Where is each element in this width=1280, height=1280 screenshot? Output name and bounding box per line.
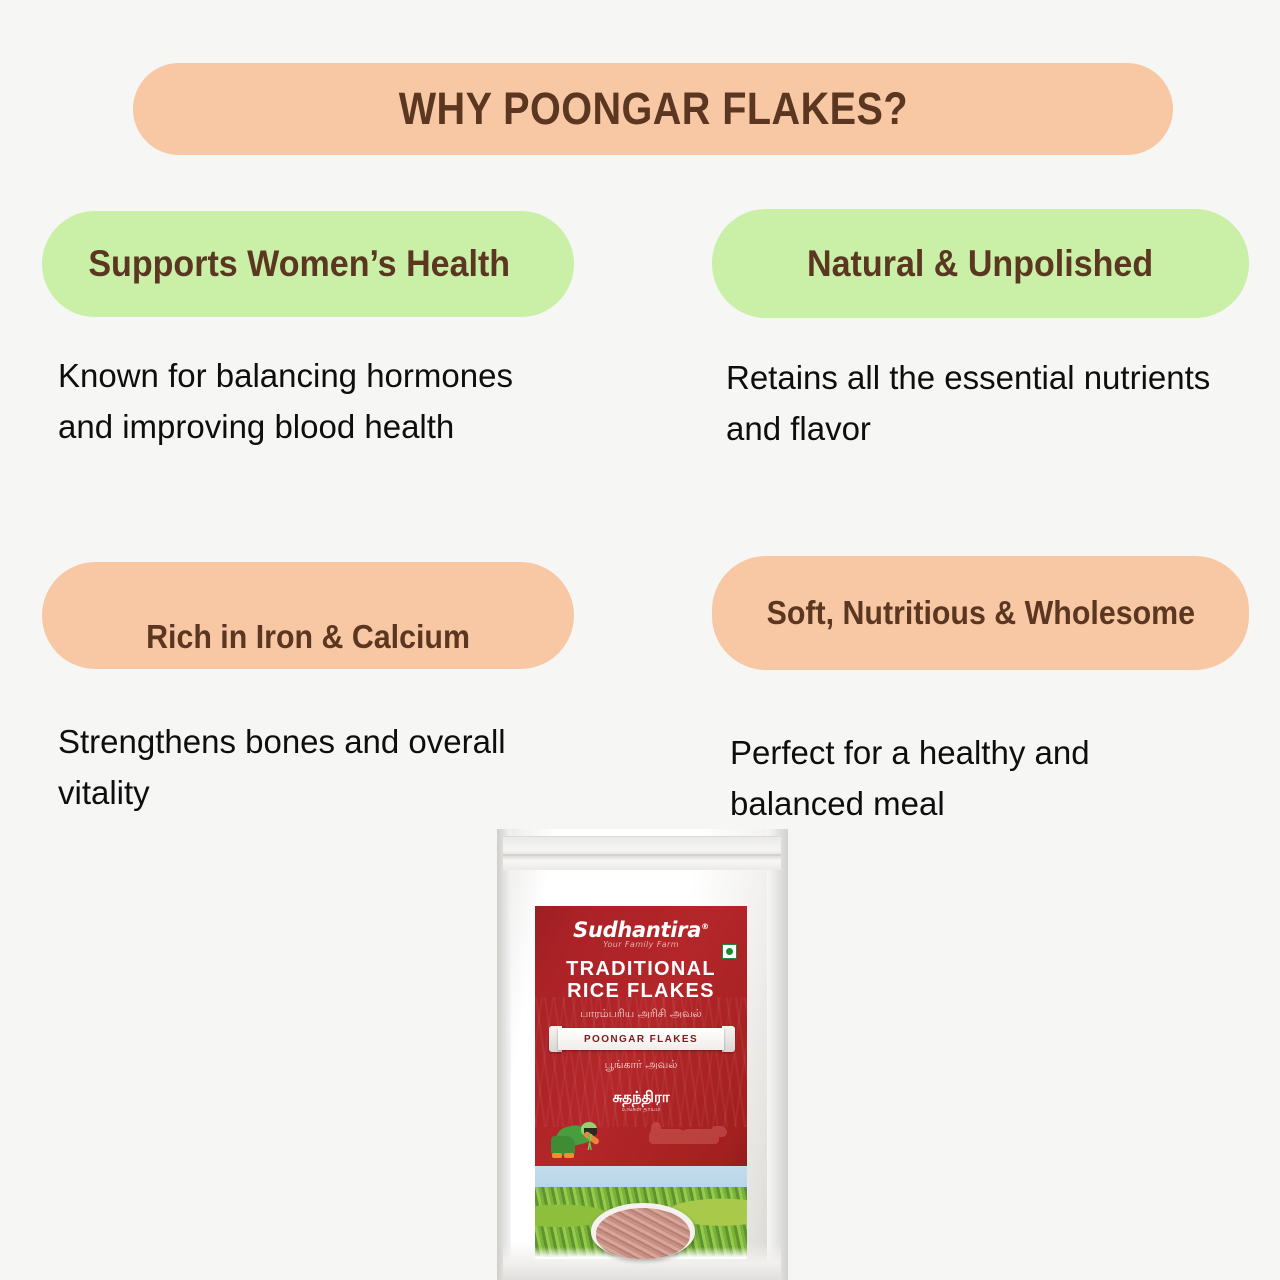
package-product-name-line1: TRADITIONAL xyxy=(535,958,747,981)
feature-description-supports-womens-health: Known for balancing hormones and improvi… xyxy=(58,350,558,453)
package-product-name-line2: RICE FLAKES xyxy=(535,980,747,1003)
feature-pill-rich-in-iron-calcium: Rich in Iron & Calcium xyxy=(42,562,574,669)
package-variant-name: POONGAR FLAKES xyxy=(584,1034,698,1045)
feature-description-natural-unpolished: Retains all the essential nutrients and … xyxy=(726,352,1226,455)
product-package-image: Sudhantira® Your Family Farm TRADITIONAL… xyxy=(489,829,796,1280)
package-sky-band xyxy=(535,1166,747,1187)
feature-pill-supports-womens-health: Supports Women’s Health xyxy=(42,211,574,317)
feature-label-soft-nutritious-wholesome: Soft, Nutritious & Wholesome xyxy=(766,593,1194,633)
feature-label-rich-in-iron-calcium: Rich in Iron & Calcium xyxy=(146,617,470,657)
feature-pill-soft-nutritious-wholesome: Soft, Nutritious & Wholesome xyxy=(712,556,1249,670)
feature-description-rich-in-iron-calcium: Strengthens bones and overall vitality xyxy=(58,716,558,819)
rice-seedling-icon xyxy=(581,1134,599,1150)
feature-label-supports-womens-health: Supports Women’s Health xyxy=(88,241,510,286)
farm-illustration xyxy=(535,1116,747,1158)
page-title-banner: WHY POONGAR FLAKES? xyxy=(133,63,1173,155)
package-brand-name: Sudhantira® xyxy=(535,918,747,942)
brand-name-text: Sudhantira xyxy=(573,918,701,942)
package-product-name-tamil: பாரம்பரிய அரிசி அவல் xyxy=(535,1007,747,1022)
package-front-label: Sudhantira® Your Family Farm TRADITIONAL… xyxy=(535,906,747,1187)
rice-flakes xyxy=(596,1208,690,1259)
pouch-right-seal xyxy=(767,829,788,1280)
registered-mark-icon: ® xyxy=(701,922,709,931)
feature-description-soft-nutritious-wholesome: Perfect for a healthy and balanced meal xyxy=(730,727,1230,830)
pouch-left-seal xyxy=(497,829,511,1280)
pouch-ziplock xyxy=(503,836,781,870)
bowl-of-rice-flakes xyxy=(591,1203,695,1259)
feature-pill-natural-unpolished: Natural & Unpolished xyxy=(712,209,1249,318)
page-title: WHY POONGAR FLAKES? xyxy=(398,83,907,135)
bullock-plough-icon xyxy=(647,1120,741,1152)
package-logo-tamil-subtitle: உங்கள் தாயம் xyxy=(535,1106,747,1114)
package-variant-banner: POONGAR FLAKES xyxy=(558,1028,724,1050)
package-logo-tamil: சுதந்திரா xyxy=(535,1088,747,1108)
vegetarian-mark-icon xyxy=(722,944,737,959)
feature-label-natural-unpolished: Natural & Unpolished xyxy=(807,241,1153,286)
package-variant-name-tamil: பூங்கார் அவல் xyxy=(535,1058,747,1073)
package-brand-tagline: Your Family Farm xyxy=(535,940,747,949)
